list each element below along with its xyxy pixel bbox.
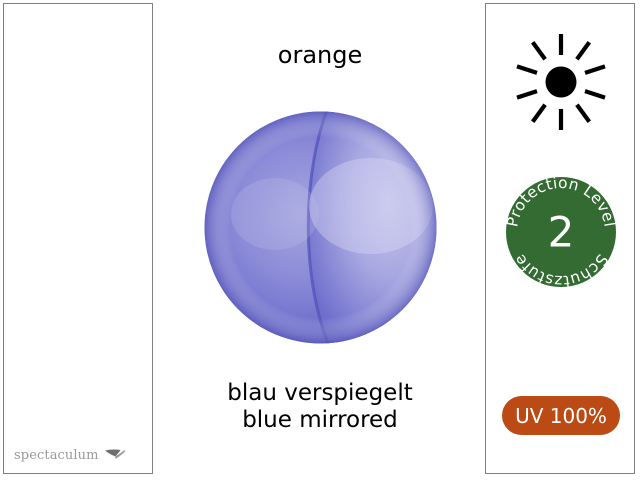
lens-preview: [203, 110, 438, 345]
lens-sphere-icon: [203, 110, 438, 345]
brand-name-label: spectaculum: [14, 449, 99, 462]
sun-icon: [511, 32, 611, 132]
center-content: orange: [155, 0, 485, 480]
protection-level-badge: Protection Level Schutzstufe 2: [505, 176, 617, 288]
product-sheet-canvas: spectaculum orange: [0, 0, 640, 480]
sunglasses-swoosh-icon: [104, 447, 126, 463]
brand-logo: spectaculum: [14, 445, 126, 465]
frame-color-label: orange: [155, 43, 485, 67]
badge-value: 2: [548, 208, 575, 257]
right-panel: Protection Level Schutzstufe 2 UV 100%: [485, 3, 635, 474]
uv-protection-badge: UV 100%: [502, 396, 620, 435]
uv-protection-label: UV 100%: [515, 406, 607, 426]
lens-caption: blau verspiegelt blue mirrored: [155, 380, 485, 434]
protection-level-badge-icon: Protection Level Schutzstufe 2: [505, 176, 617, 288]
left-panel: spectaculum: [3, 3, 153, 474]
lens-caption-en: blue mirrored: [155, 407, 485, 434]
lens-caption-de: blau verspiegelt: [155, 380, 485, 407]
